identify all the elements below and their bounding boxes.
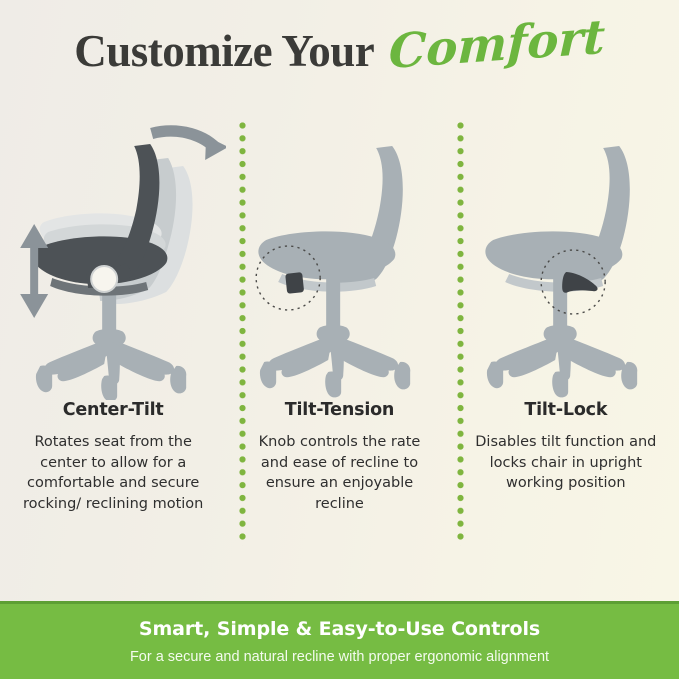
caption-center-tilt: Center-Tilt Rotates seat from the center… [20, 400, 206, 514]
chair-base [36, 280, 186, 400]
caption-title: Tilt-Lock [473, 400, 659, 420]
infographic-canvas: Customize Your Comfort [0, 0, 679, 679]
caption-tilt-lock: Tilt-Lock Disables tilt function and loc… [473, 400, 659, 494]
dotted-divider-left [239, 122, 246, 546]
page-title: Customize Your Comfort [74, 23, 605, 78]
caption-body: Disables tilt function and locks chair i… [473, 432, 659, 494]
caption-title: Center-Tilt [20, 400, 206, 420]
chair-frame [485, 146, 637, 397]
panel-tilt-tension: Tilt-Tension Knob controls the rate and … [226, 100, 452, 560]
title-script-text: Comfort [388, 9, 606, 79]
tension-knob [285, 272, 304, 294]
footer-title: Smart, Simple & Easy-to-Use Controls [139, 618, 540, 640]
caption-tilt-tension: Tilt-Tension Knob controls the rate and … [247, 400, 433, 514]
panel-center-tilt: Center-Tilt Rotates seat from the center… [0, 100, 226, 560]
pivot-point [91, 266, 117, 292]
illustration-tilt-lock [453, 100, 679, 400]
header: Customize Your Comfort [0, 0, 679, 100]
panel-tilt-lock: Tilt-Lock Disables tilt function and loc… [453, 100, 679, 560]
footer-subtitle: For a secure and natural recline with pr… [130, 649, 549, 665]
caption-body: Knob controls the rate and ease of recli… [247, 432, 433, 514]
caption-body: Rotates seat from the center to allow fo… [20, 432, 206, 514]
footer-banner: Smart, Simple & Easy-to-Use Controls For… [0, 601, 679, 679]
title-main-text: Customize Your [74, 25, 374, 77]
feature-panels: Center-Tilt Rotates seat from the center… [0, 100, 679, 560]
chair-frame [259, 146, 411, 397]
illustration-tilt-tension [226, 100, 452, 400]
dotted-divider-right [457, 122, 464, 546]
curved-rotation-arrow [150, 125, 226, 160]
illustration-center-tilt [0, 100, 226, 400]
caption-title: Tilt-Tension [247, 400, 433, 420]
